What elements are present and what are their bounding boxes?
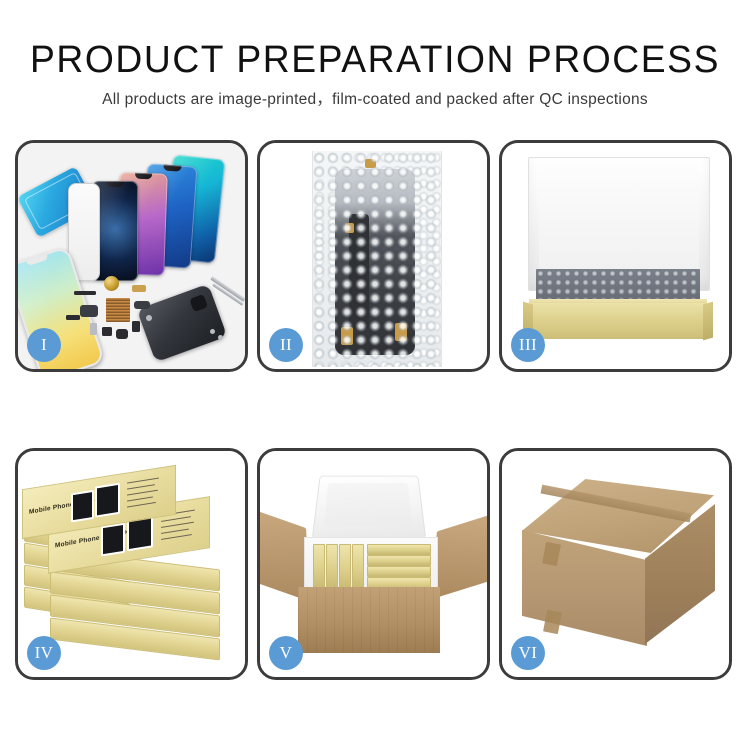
carton-body — [298, 587, 440, 653]
connector-gold-bottom-right — [395, 323, 407, 341]
step-badge-3: III — [511, 328, 545, 362]
step-badge-2: II — [269, 328, 303, 362]
packed-box-1 — [313, 544, 325, 590]
part-connector-strip — [74, 291, 96, 295]
part-screw-3 — [218, 335, 223, 340]
page-header: PRODUCT PREPARATION PROCESS All products… — [0, 0, 750, 111]
process-step-panel-4: Mobile Phone Spare Parts Mobile Phone Sp… — [15, 448, 248, 680]
step-badge-1: I — [27, 328, 61, 362]
box-window-rear-b — [95, 483, 120, 518]
part-antenna-strip — [66, 315, 80, 320]
foam-lid-open — [312, 476, 427, 539]
process-step-panel-5: V — [257, 448, 490, 680]
part-flex-cable — [80, 305, 98, 317]
packed-box-7 — [367, 566, 431, 577]
inner-box-body — [529, 303, 707, 339]
part-silver-bracket — [90, 323, 97, 335]
part-flex-cable-2 — [134, 301, 150, 309]
page-title: PRODUCT PREPARATION PROCESS — [8, 38, 743, 82]
part-screw — [146, 315, 152, 321]
phone-back-housing — [137, 284, 228, 363]
part-small-chip — [102, 327, 112, 336]
process-step-grid: I II III — [15, 140, 735, 680]
step-badge-5: V — [269, 636, 303, 670]
box-window-rear-a — [71, 490, 94, 523]
process-step-panel-6: VI — [499, 448, 732, 680]
packed-box-6 — [367, 555, 431, 566]
packed-box-5 — [367, 544, 431, 555]
packed-box-2 — [326, 544, 338, 590]
part-logic-board — [106, 298, 130, 322]
part-screw-2 — [210, 329, 215, 334]
part-gold-speaker — [104, 276, 119, 291]
part-camera-module — [116, 329, 128, 339]
step-badge-4: IV — [27, 636, 61, 670]
packed-box-4 — [352, 544, 364, 590]
process-step-panel-1: I — [15, 140, 248, 372]
part-tan-module — [132, 285, 146, 292]
box-window-front-a — [101, 523, 125, 557]
bubble-wrap-bag — [312, 151, 442, 367]
process-step-panel-2: II — [257, 140, 490, 372]
step-badge-6: VI — [511, 636, 545, 670]
carton-right-flap — [433, 513, 487, 598]
tweezers-tool — [210, 276, 245, 302]
page-subtitle: All products are image-printed，film-coat… — [0, 89, 750, 111]
connector-gold-bottom-left — [341, 327, 353, 345]
part-vibrator — [132, 321, 140, 332]
connector-gold-top — [365, 159, 376, 168]
packed-box-3 — [339, 544, 351, 590]
connector-gold-mid — [345, 223, 354, 233]
carton-tape-lower — [543, 610, 562, 634]
process-step-panel-3: III — [499, 140, 732, 372]
